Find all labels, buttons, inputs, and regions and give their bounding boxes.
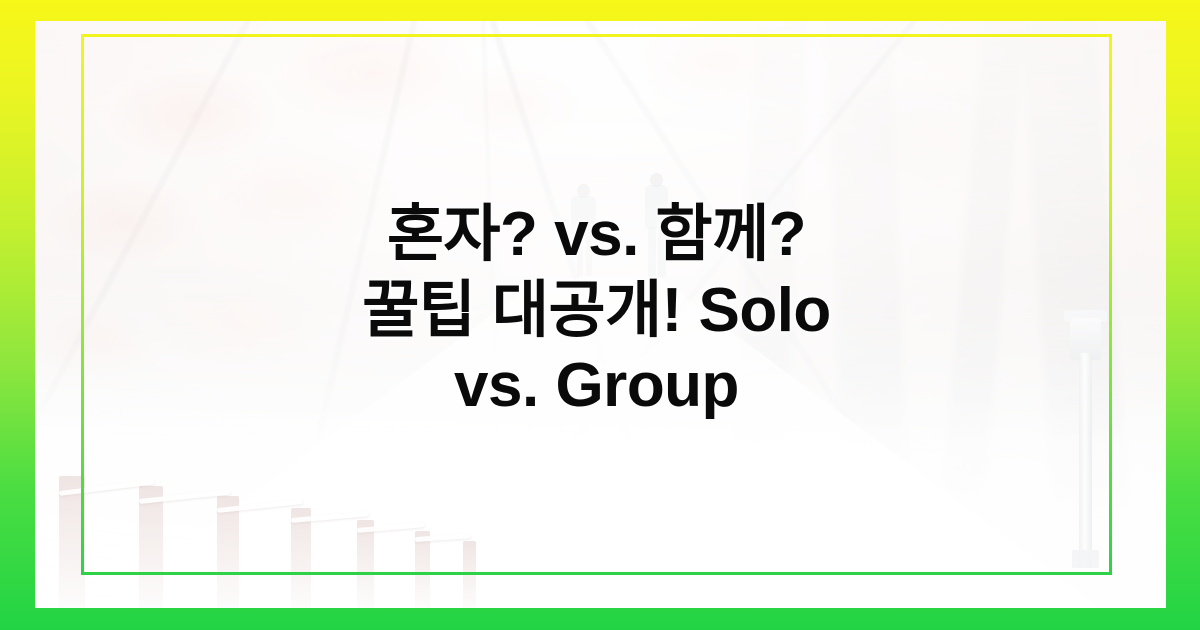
headline-container: 혼자? vs. 함께? 꿀팁 대공개! Solo vs. Group (81, 34, 1112, 575)
page-title: 혼자? vs. 함께? 꿀팁 대공개! Solo vs. Group (362, 197, 831, 424)
thumbnail-canvas: 혼자? vs. 함께? 꿀팁 대공개! Solo vs. Group (0, 0, 1200, 630)
